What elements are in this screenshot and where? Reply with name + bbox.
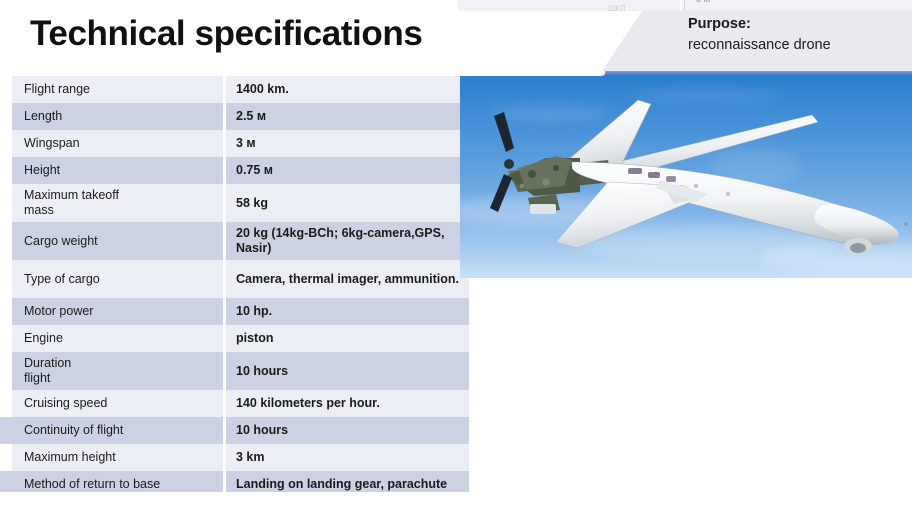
spec-parameter-cell: Flight range (12, 76, 225, 103)
spec-parameter-cell: Engine (12, 325, 225, 352)
spec-value-cell: 10 hours (225, 417, 470, 444)
table-row: Maximum takeoff mass58 kg (12, 184, 469, 222)
spec-parameter-cell: Continuity of flight (12, 417, 225, 444)
purpose-banner-text: Purpose: reconnaissance drone (688, 14, 912, 56)
spec-parameter-cell: Height (12, 157, 225, 184)
spec-value-cell: Camera, thermal imager, ammunition. (225, 260, 470, 298)
spec-value-cell: 2.5 м (225, 103, 470, 130)
table-row: Motor power10 hp. (12, 298, 469, 325)
spec-value-cell: 1400 km. (225, 76, 470, 103)
table-row: Continuity of flight10 hours (12, 417, 469, 444)
purpose-banner: Purpose: reconnaissance drone (602, 11, 912, 71)
purpose-value: reconnaissance drone (688, 34, 912, 56)
spec-parameter-cell: Cargo weight (12, 222, 225, 260)
table-row: Maximum height3 km (12, 444, 469, 471)
spec-value-cell: 10 hp. (225, 298, 470, 325)
ghost-row-value: 3 кг (696, 0, 712, 4)
spec-parameter-cell: Cruising speed (12, 390, 225, 417)
spec-parameter-cell: Type of cargo (12, 260, 225, 298)
spec-value-cell: 3 м (225, 130, 470, 157)
spec-value-cell: 140 kilometers per hour. (225, 390, 470, 417)
technical-specifications-table: Flight range1400 km.Length2.5 мWingspan3… (12, 76, 469, 498)
spec-value-cell: 20 kg (14kg-BCh; 6kg-camera,GPS, Nasir) (225, 222, 470, 260)
spec-parameter-cell: Maximum height (12, 444, 225, 471)
table-row: Enginepiston (12, 325, 469, 352)
spec-value-cell: 0.75 м (225, 157, 470, 184)
purpose-label: Purpose: (688, 14, 912, 34)
spec-value-cell: 3 km (225, 444, 470, 471)
drone-aircraft-illustration (460, 76, 912, 278)
drone-photo (460, 76, 912, 278)
table-body: Flight range1400 km.Length2.5 мWingspan3… (12, 76, 469, 498)
spec-value-cell: 58 kg (225, 184, 470, 222)
spec-value-cell: piston (225, 325, 470, 352)
table-row: Cargo weight20 kg (14kg-BCh; 6kg-camera,… (12, 222, 469, 260)
cutoff-table-fragment: 3 кг ШКЛ (458, 0, 912, 12)
table-row: Type of cargoCamera, thermal imager, amm… (12, 260, 469, 298)
spec-parameter-cell: Motor power (12, 298, 225, 325)
spec-parameter-cell: Maximum takeoff mass (12, 184, 225, 222)
table-row: Height0.75 м (12, 157, 469, 184)
spec-parameter-cell: Duration flight (12, 352, 225, 390)
ghost-row-faint-text: ШКЛ (608, 4, 625, 13)
table-left-bleed (0, 417, 12, 444)
spec-value-cell: 10 hours (225, 352, 470, 390)
table-row: Duration flight10 hours (12, 352, 469, 390)
table-row: Length2.5 м (12, 103, 469, 130)
ghost-column-divider (680, 0, 682, 11)
spec-parameter-cell: Wingspan (12, 130, 225, 157)
table-row: Flight range1400 km. (12, 76, 469, 103)
table-row: Wingspan3 м (12, 130, 469, 157)
spec-parameter-cell: Length (12, 103, 225, 130)
bottom-margin (0, 492, 912, 510)
table-row: Cruising speed140 kilometers per hour. (12, 390, 469, 417)
page-title: Technical specifications (30, 14, 422, 54)
ghost-column-divider-line (684, 0, 685, 11)
